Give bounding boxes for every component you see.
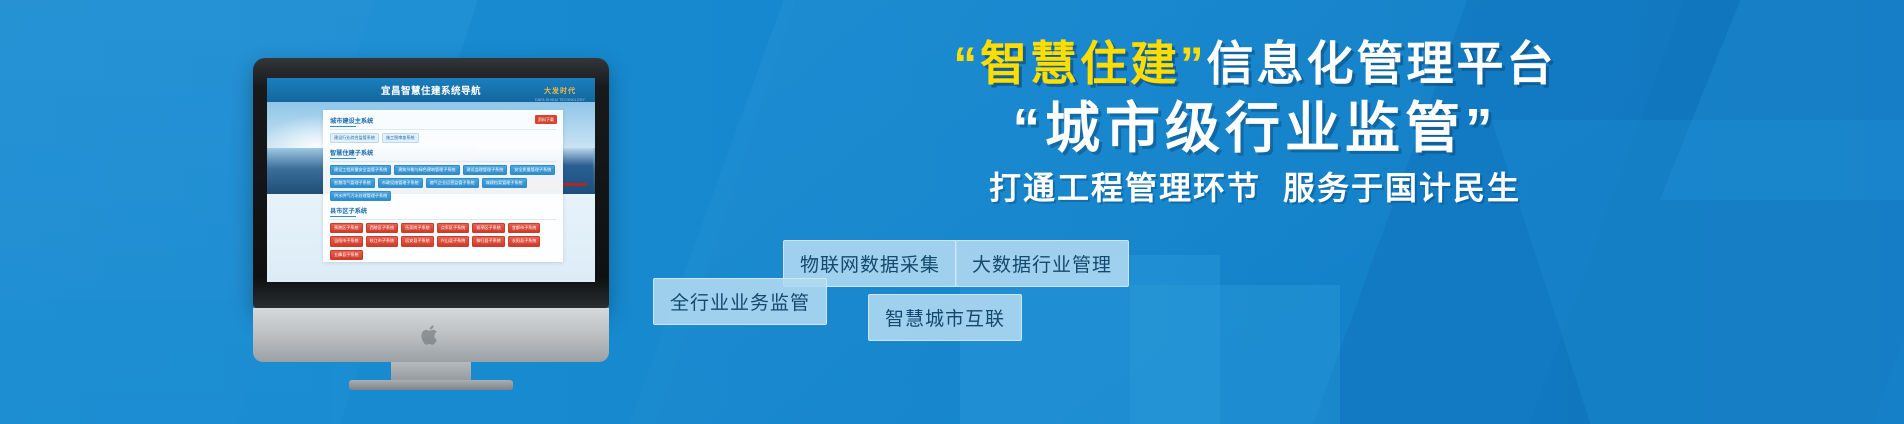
screen-topbar: 宜昌智慧住建系统导航 大发时代 DAFA SHIDAI TECHNOLOGY — [267, 78, 595, 102]
panel-button-row: 夷陵区子系统 西陵区子系统 伍家岗子系统 点军区子系统 猇亭区子系统 宜都市子系… — [330, 223, 556, 259]
headline-primary-highlight: 智慧住建 — [980, 37, 1180, 90]
district-link[interactable]: 远安县子系统 — [401, 236, 434, 246]
monitor-chin — [253, 308, 609, 362]
monitor-stand-base — [349, 380, 513, 390]
promo-banner: 宜昌智慧住建系统导航 大发时代 DAFA SHIDAI TECHNOLOGY 资… — [0, 0, 1904, 424]
district-link[interactable]: 西陵区子系统 — [366, 223, 399, 233]
system-link[interactable]: 安全质量管理子系统 — [510, 165, 555, 175]
system-link[interactable]: 建设监理管理子系统 — [463, 165, 508, 175]
tagline-part-1: 打通工程管理环节 — [989, 170, 1261, 206]
district-link[interactable]: 点军区子系统 — [437, 223, 470, 233]
system-link[interactable]: 供水供气污水处理管理子系统 — [330, 191, 391, 201]
district-link[interactable]: 秭归县子系统 — [472, 236, 505, 246]
quote-open-mark: “ — [954, 37, 981, 90]
divider — [330, 161, 556, 162]
apple-logo-icon — [421, 323, 441, 347]
navigation-panel: 资料下载 城市建设主系统 建设行业综合监管系统 施工图审查系统 智慧住建子系统 … — [323, 110, 563, 262]
system-link[interactable]: 燃气企业运营监管子系统 — [426, 178, 479, 188]
feature-badge-bigdata-industry-management[interactable]: 大数据行业管理 — [955, 240, 1129, 287]
district-link[interactable]: 五峰县子系统 — [330, 250, 363, 260]
monitor-bezel: 宜昌智慧住建系统导航 大发时代 DAFA SHIDAI TECHNOLOGY 资… — [253, 58, 609, 308]
screen-topbar-title: 宜昌智慧住建系统导航 — [381, 83, 481, 97]
system-link[interactable]: 建筑节能与绿色建筑管理子系统 — [394, 165, 459, 175]
panel-section-title: 县市区子系统 — [330, 206, 556, 217]
system-link[interactable]: 建设行业综合监管系统 — [330, 133, 379, 143]
headline-secondary-text: “城市级行业监管” — [1012, 97, 1497, 159]
feature-badge-all-industry-supervision[interactable]: 全行业业务监管 — [653, 278, 827, 325]
headline-secondary: “城市级行业监管” — [650, 101, 1850, 156]
headline-tagline: 打通工程管理环节服务于国计民生 — [650, 172, 1850, 204]
panel-button-row: 建设行业综合监管系统 施工图审查系统 — [330, 133, 556, 143]
headline-primary-rest: 信息化管理平台 — [1207, 37, 1557, 90]
headline-block: “智慧住建”信息化管理平台 “城市级行业监管” 打通工程管理环节服务于国计民生 — [650, 40, 1850, 204]
device-mockup: 宜昌智慧住建系统导航 大发时代 DAFA SHIDAI TECHNOLOGY 资… — [253, 58, 609, 308]
system-link[interactable]: 城建档案管理子系统 — [482, 178, 527, 188]
system-link[interactable]: 智慧用气管理子系统 — [330, 178, 375, 188]
district-link[interactable]: 长阳县子系统 — [508, 236, 541, 246]
divider — [330, 129, 556, 130]
headline-primary: “智慧住建”信息化管理平台 — [650, 40, 1850, 87]
district-link[interactable]: 枝江市子系统 — [366, 236, 399, 246]
district-link[interactable]: 兴山县子系统 — [437, 236, 470, 246]
background-facet — [1130, 285, 1340, 424]
panel-section-title: 智慧住建子系统 — [330, 148, 556, 159]
feature-badge-smart-city-interconnect[interactable]: 智慧城市互联 — [868, 294, 1022, 341]
district-link[interactable]: 夷陵区子系统 — [330, 223, 363, 233]
district-link[interactable]: 当阳市子系统 — [330, 236, 363, 246]
brand-logo-main: 大发时代 — [544, 88, 576, 95]
system-link[interactable]: 施工图审查系统 — [382, 133, 419, 143]
panel-button-row: 建设工程质量安全监管子系统 建筑节能与绿色建筑管理子系统 建设监理管理子系统 安… — [330, 165, 556, 201]
tagline-part-2: 服务于国计民生 — [1283, 170, 1521, 206]
district-link[interactable]: 宜都市子系统 — [508, 223, 541, 233]
monitor-screen: 宜昌智慧住建系统导航 大发时代 DAFA SHIDAI TECHNOLOGY 资… — [267, 78, 595, 282]
quote-close-mark: ” — [1180, 37, 1207, 90]
screen-brand-logo: 大发时代 DAFA SHIDAI TECHNOLOGY — [535, 81, 585, 102]
divider — [330, 219, 556, 220]
system-link[interactable]: 建设工程质量安全监管子系统 — [330, 165, 391, 175]
district-link[interactable]: 猇亭区子系统 — [472, 223, 505, 233]
panel-section-title: 城市建设主系统 — [330, 116, 556, 127]
district-link[interactable]: 伍家岗子系统 — [401, 223, 434, 233]
system-link[interactable]: 市政设施管理子系统 — [378, 178, 423, 188]
